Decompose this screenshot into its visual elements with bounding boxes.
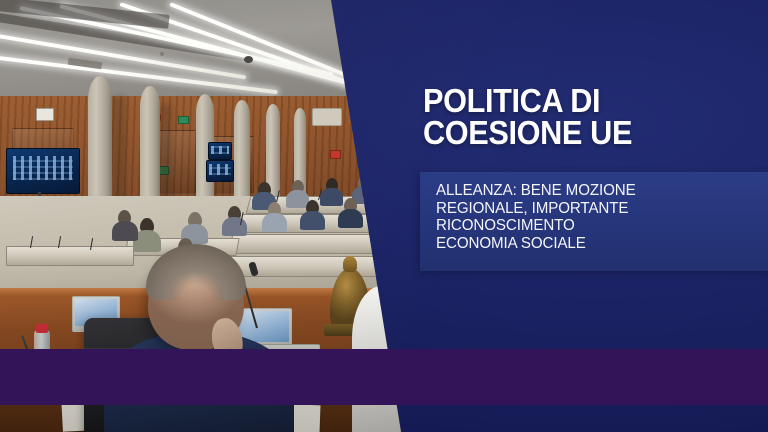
wall-sign [36,108,54,121]
subtitle-line-1: ALLEANZA: BENE MOZIONE [436,182,756,200]
wall-unit [312,108,342,126]
headline-line-2: COESIONE UE [423,117,730,149]
presentation-screen [6,148,80,194]
audience-person [320,188,343,206]
subtitle-line-4: ECONOMIA SOCIALE [436,235,756,253]
social-graphic-card: POLITICA DI COESIONE UE ALLEANZA: BENE M… [0,0,768,432]
footer-bar: CONFCOOPERATIVE LOMBARDIA [0,349,768,405]
audience-person [338,209,363,228]
headline-title: POLITICA DI COESIONE UE [423,85,730,150]
subtitle-line-3: RICONOSCIMENTO [436,217,756,235]
audience-person [112,221,138,241]
exit-sign [178,116,189,124]
subtitle-text: ALLEANZA: BENE MOZIONE REGIONALE, IMPORT… [436,182,756,253]
presentation-screen [206,160,234,182]
subtitle-line-2: REGIONALE, IMPORTANTE [436,200,756,218]
exit-sign [330,150,341,159]
audience-desk [6,246,134,266]
subtitle-panel: ALLEANZA: BENE MOZIONE REGIONALE, IMPORT… [420,172,768,271]
column [88,76,112,204]
ceiling-fixture [160,52,164,56]
bell-handle [343,256,357,272]
ceiling-camera [244,56,253,63]
headline-line-1: POLITICA DI [423,85,730,117]
column [234,100,250,206]
column-shadow [160,104,172,204]
audience-person [222,217,247,236]
presentation-screen [208,142,232,160]
audience-person [300,211,325,230]
bottle-cap [36,324,48,333]
column-shadow [112,96,126,204]
audience-person [262,213,287,232]
column [140,86,160,206]
